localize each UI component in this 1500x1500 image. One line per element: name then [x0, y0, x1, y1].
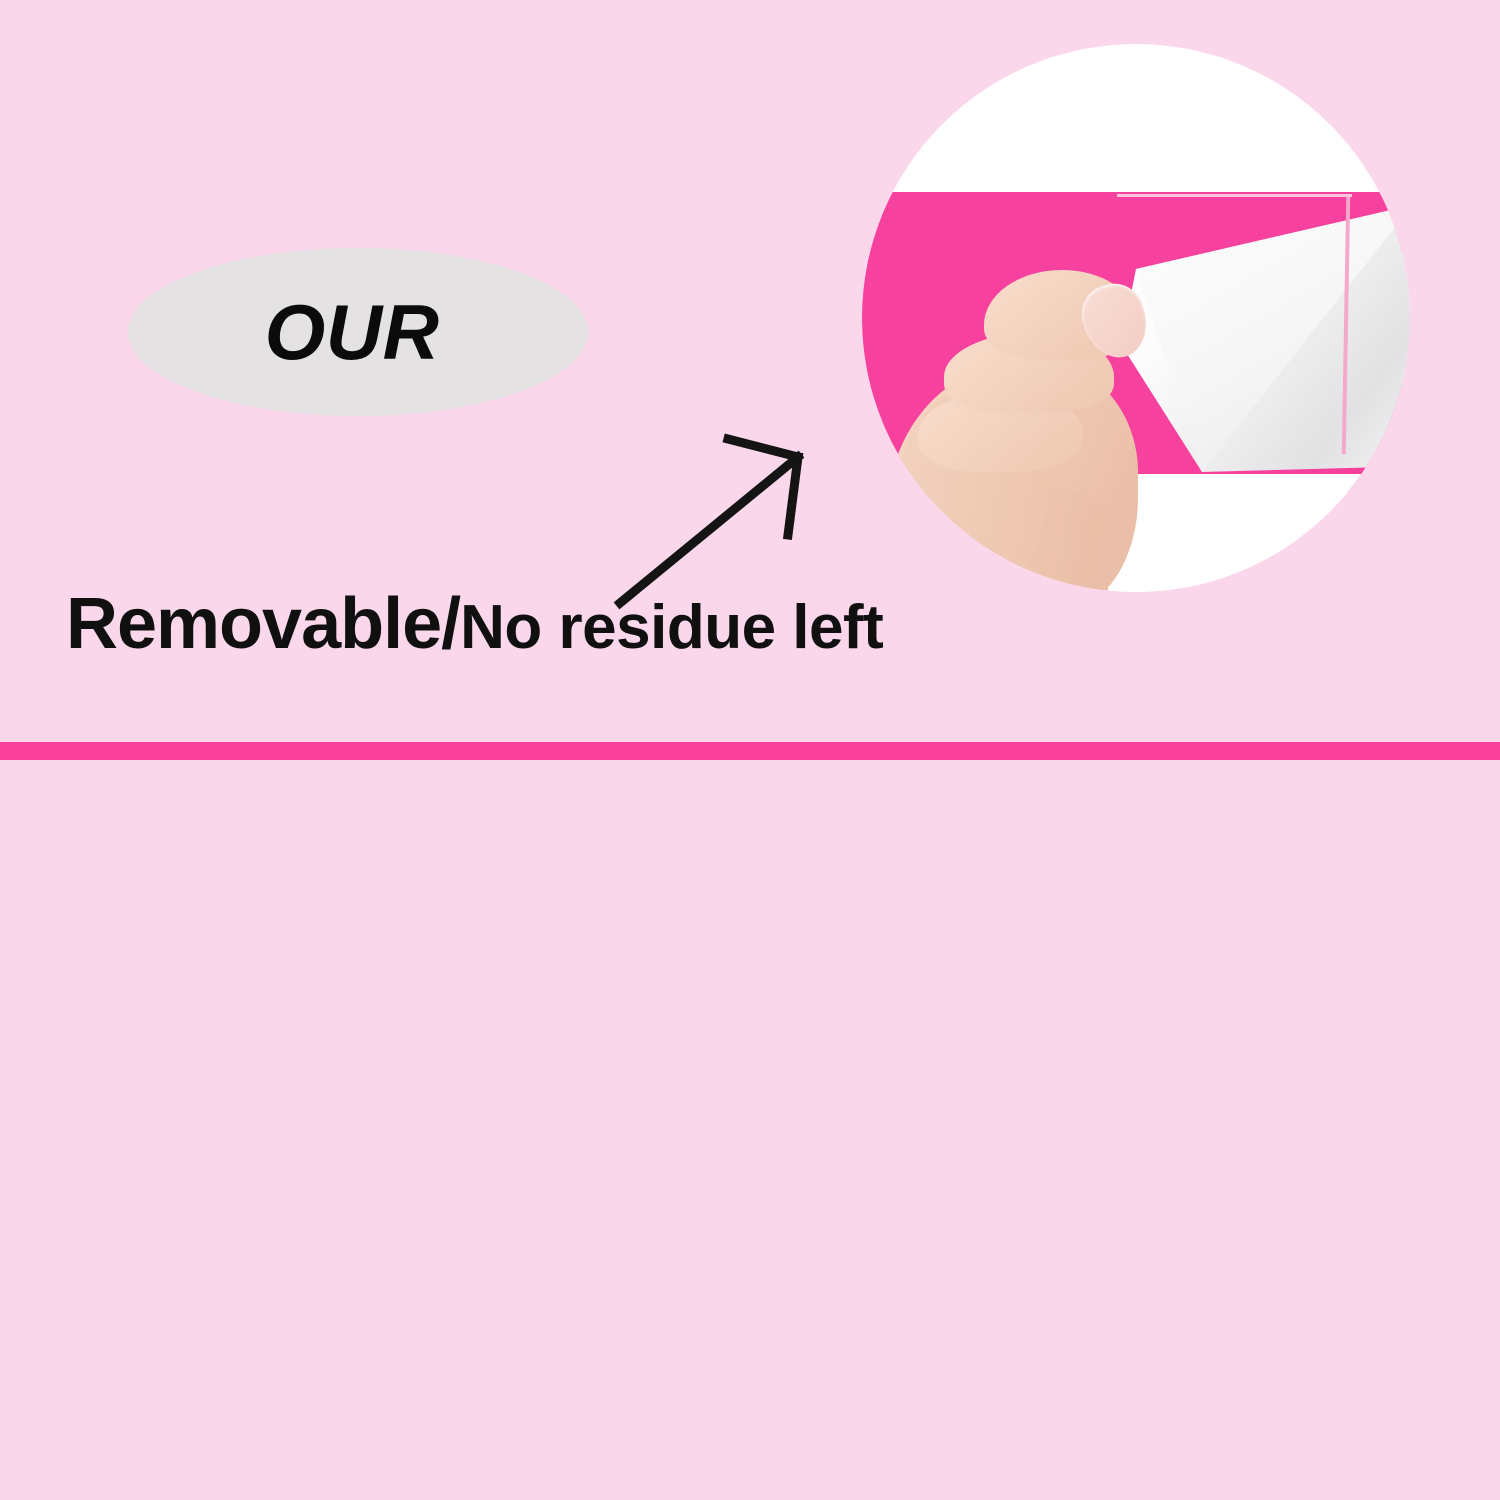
hand-illustration	[888, 240, 1188, 592]
hand-peeling-pink-sticker-photo	[862, 44, 1410, 592]
caption-our-secondary: No residue left	[460, 593, 883, 662]
section-divider	[0, 742, 1500, 760]
comparison-infographic: OUR Removable/No residue left	[0, 0, 1500, 1500]
section-other: OTHER Not easy to remove	[0, 760, 1500, 1500]
sticker-edge-pink-line-top	[1117, 194, 1352, 197]
section-our: OUR Removable/No residue left	[0, 0, 1500, 742]
caption-our-primary: Removable/	[66, 584, 460, 664]
badge-our: OUR	[128, 248, 588, 416]
caption-our: Removable/No residue left	[66, 588, 883, 660]
badge-our-label: OUR	[265, 293, 440, 371]
arrow-up-right-icon	[610, 425, 840, 615]
